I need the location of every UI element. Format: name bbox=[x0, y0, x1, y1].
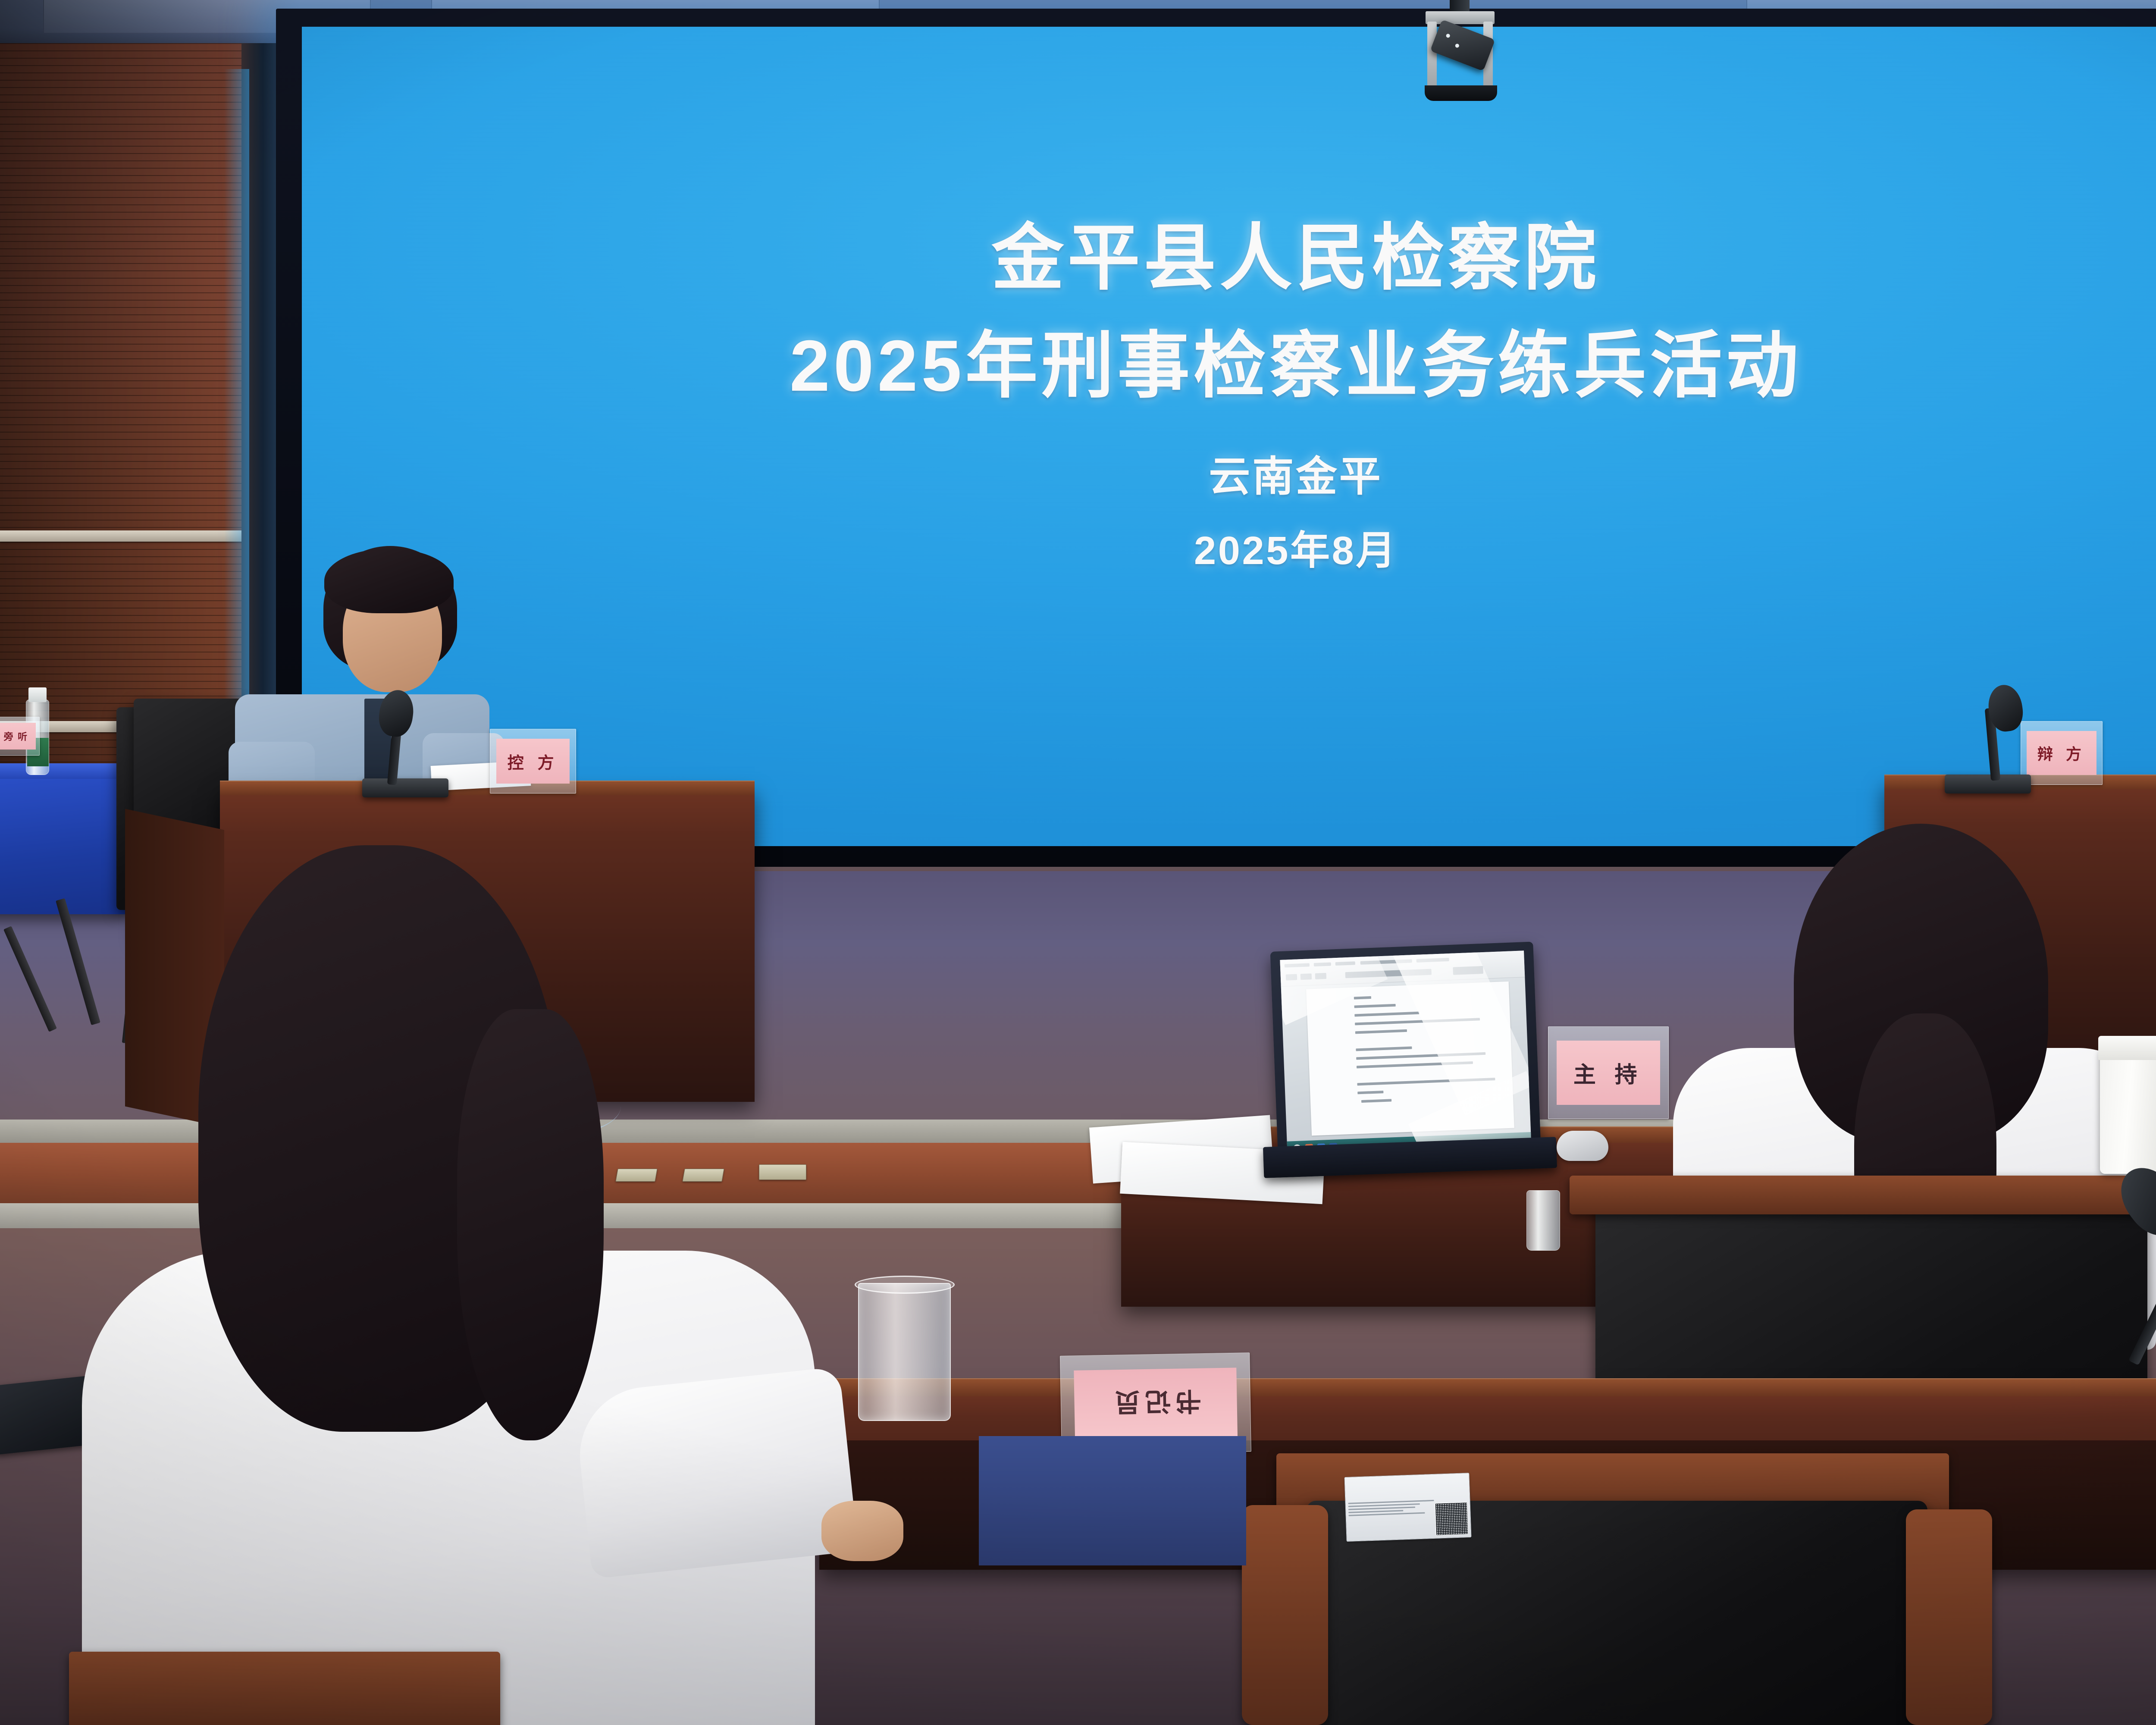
slide-subtitle-date: 2025年8月 bbox=[302, 518, 2156, 576]
bottle-cap bbox=[28, 687, 47, 702]
laptop-mouse[interactable] bbox=[1557, 1131, 1608, 1161]
toolbar-chip bbox=[1360, 959, 1412, 965]
floor-socket bbox=[759, 1164, 806, 1180]
laptop-screen[interactable] bbox=[1280, 950, 1531, 1156]
prosecutor-hair-front bbox=[324, 549, 454, 613]
document-text-line bbox=[1357, 1078, 1495, 1085]
placard-text: 主 持 bbox=[1557, 1041, 1660, 1105]
toolbar-chip bbox=[1285, 963, 1310, 967]
microphone-base bbox=[362, 778, 448, 797]
document-text-line bbox=[1354, 996, 1371, 1000]
document-text-line bbox=[1361, 1099, 1391, 1103]
toolbar-chip bbox=[1345, 969, 1432, 979]
placard-text: 旁 听 bbox=[0, 723, 36, 750]
placard-prosecution: 控 方 bbox=[490, 729, 576, 793]
ceiling-camera-mount bbox=[1410, 0, 1509, 112]
placard-defense: 辩 方 bbox=[2021, 721, 2103, 785]
document-text-line bbox=[1357, 1061, 1473, 1068]
toolbar-chip bbox=[1453, 966, 1483, 975]
placard-host: 主 持 bbox=[1548, 1026, 1669, 1119]
document-text-line bbox=[1354, 1012, 1419, 1017]
audience-chair-armrest bbox=[1242, 1505, 1328, 1725]
placard-side-bench: 旁 听 bbox=[0, 717, 40, 756]
qr-code-icon bbox=[1435, 1502, 1468, 1535]
clerk-hair-strand bbox=[457, 1009, 604, 1440]
tag-line bbox=[1348, 1506, 1415, 1510]
placard-text: 书记员 bbox=[1074, 1368, 1237, 1440]
toolbar-chip bbox=[1335, 961, 1355, 966]
laptop-app-toolbar bbox=[1280, 950, 1525, 987]
water-bottle bbox=[1526, 1190, 1560, 1251]
asset-tag-chair bbox=[1344, 1473, 1471, 1542]
document-text-line bbox=[1357, 1091, 1383, 1094]
document-page bbox=[1306, 982, 1514, 1136]
tag-line bbox=[1348, 1499, 1434, 1504]
microphone-base bbox=[1945, 775, 2031, 793]
floor-socket bbox=[682, 1169, 724, 1182]
audience-chair-armrest bbox=[1906, 1509, 1992, 1725]
side-bench-left-top bbox=[0, 763, 125, 779]
camera-bracket-arm bbox=[1427, 22, 1437, 95]
clerk-chair-frame bbox=[69, 1652, 500, 1725]
slide-subtitle-location: 云南金平 bbox=[302, 443, 2156, 503]
clerk-table-top bbox=[819, 1378, 2156, 1396]
document-text-line bbox=[1356, 1052, 1485, 1060]
insulated-tumbler bbox=[2100, 1049, 2156, 1174]
clerk-hand bbox=[821, 1501, 903, 1561]
tag-line bbox=[1349, 1512, 1425, 1516]
placard-text: 辩 方 bbox=[2027, 731, 2096, 775]
glass-jar-rim bbox=[855, 1276, 955, 1294]
toolbar-chip bbox=[1416, 958, 1449, 963]
toolbar-chip bbox=[1315, 973, 1327, 979]
floor-socket bbox=[615, 1169, 657, 1182]
document-text-line bbox=[1355, 1029, 1407, 1034]
side-bench-left bbox=[0, 772, 125, 914]
photo-scene: 金平县人民检察院 2025年刑事检察业务练兵活动 云南金平 2025年8月 旁 … bbox=[0, 0, 2156, 1725]
projection-screen: 金平县人民检察院 2025年刑事检察业务练兵活动 云南金平 2025年8月 bbox=[302, 27, 2156, 846]
toolbar-chip bbox=[1286, 974, 1297, 981]
tumbler-lid bbox=[2098, 1036, 2156, 1060]
host-chair-frame bbox=[1570, 1176, 2156, 1214]
laptop-lid bbox=[1270, 941, 1542, 1167]
camera-indicator-led bbox=[1454, 43, 1460, 48]
document-text-line bbox=[1354, 1004, 1396, 1008]
tag-line bbox=[1348, 1510, 1403, 1513]
toolbar-chip bbox=[1300, 973, 1312, 980]
slide-title-line1: 金平县人民检察院 bbox=[302, 199, 2156, 304]
slide-title-line2: 2025年刑事检察业务练兵活动 bbox=[302, 307, 2156, 412]
toolbar-chip bbox=[1314, 962, 1331, 966]
clerk-arm bbox=[573, 1367, 859, 1579]
document-text-line bbox=[1356, 1046, 1412, 1051]
placard-text: 控 方 bbox=[496, 739, 570, 784]
water-glass-jar bbox=[858, 1283, 951, 1421]
table-front-panel bbox=[979, 1436, 1246, 1565]
camera-base-shroud bbox=[1425, 85, 1497, 101]
camera-indicator-led bbox=[1445, 33, 1451, 38]
document-text-line bbox=[1355, 1018, 1480, 1025]
